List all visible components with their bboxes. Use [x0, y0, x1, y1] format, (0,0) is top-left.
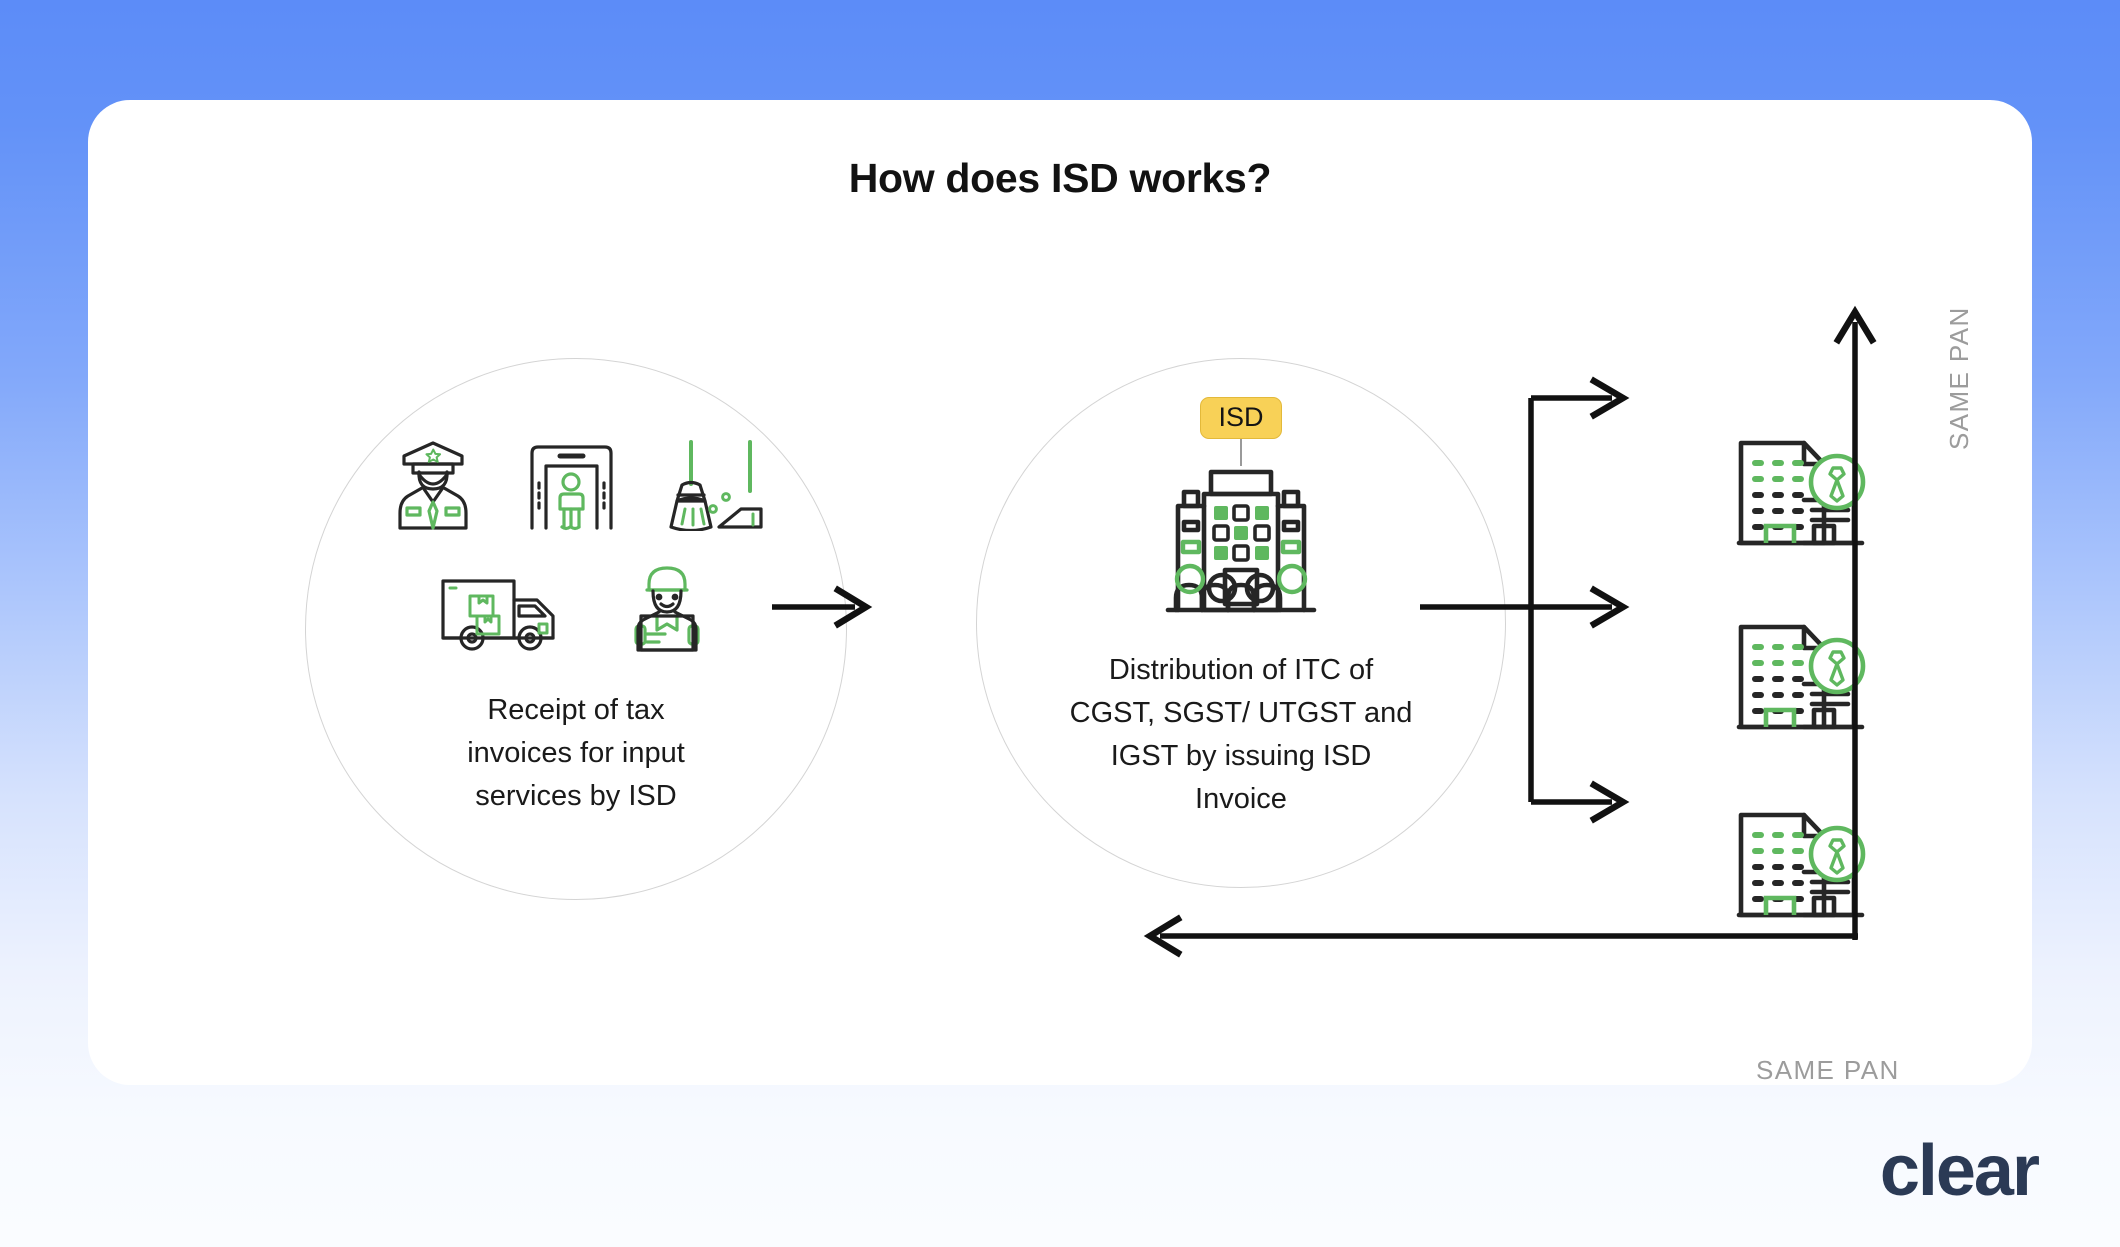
isd-office-building-icon: [1162, 603, 1320, 620]
input-services-icons-top: [306, 439, 846, 536]
same-pan-horizontal-label: SAME PAN: [1756, 1055, 1900, 1086]
branch-office-building-icon: [1736, 719, 1869, 736]
input-services-icons-bottom: [306, 564, 846, 659]
stage-middle-caption: Distribution of ITC of CGST, SGST/ UTGST…: [1006, 649, 1476, 821]
necktie-badge-icon: [1811, 640, 1863, 692]
page-title: How does ISD works?: [88, 155, 2032, 202]
branch-office-3: [1736, 810, 1869, 925]
stage-left-caption: Receipt of tax invoices for input servic…: [376, 689, 776, 818]
branch-office-building-icon: [1736, 907, 1869, 924]
stage-circle-distribution: ISD: [976, 358, 1506, 888]
main-card: How does ISD works?: [88, 100, 2032, 1085]
isd-entity-group: ISD: [1162, 397, 1320, 621]
broom-dustpan-icon: [665, 439, 765, 536]
isd-badge-stem: [1240, 439, 1242, 466]
branch-office-building-icon: [1736, 535, 1869, 552]
same-pan-vertical-label: SAME PAN: [1944, 306, 1975, 450]
metal-detector-gate-icon: [524, 439, 619, 536]
branch-office-1: [1736, 438, 1869, 553]
security-guard-icon: [388, 439, 478, 536]
delivery-truck-icon: [439, 572, 561, 659]
stage-circle-receipt: Receipt of tax invoices for input servic…: [305, 358, 847, 900]
necktie-badge-icon: [1811, 828, 1863, 880]
isd-badge: ISD: [1200, 397, 1281, 439]
brand-logo: clear: [1880, 1135, 2038, 1207]
branch-office-2: [1736, 622, 1869, 737]
delivery-person-icon: [621, 564, 713, 659]
necktie-badge-icon: [1811, 456, 1863, 508]
